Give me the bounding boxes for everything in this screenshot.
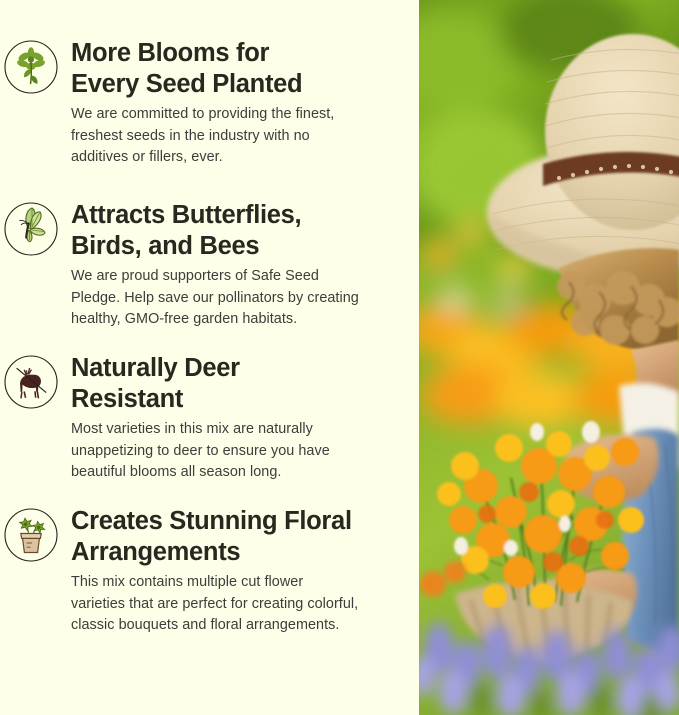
benefit-text-group: Naturally Deer Resistant Most varieties … — [60, 353, 419, 484]
benefit-text-group: Creates Stunning Floral Arrangements Thi… — [60, 506, 419, 637]
benefit-item-attracts-pollinators: Attracts Butterflies, Birds, and Bees We… — [0, 200, 419, 331]
benefit-description: Most varieties in this mix are naturally… — [71, 419, 407, 484]
benefit-text-group: Attracts Butterflies, Birds, and Bees We… — [60, 200, 419, 331]
benefit-item-more-blooms: More Blooms for Every Seed Planted We ar… — [0, 38, 419, 169]
flower-circle-icon — [2, 38, 60, 96]
benefit-item-floral-arrangements: Creates Stunning Floral Arrangements Thi… — [0, 506, 419, 637]
butterfly-circle-icon — [2, 200, 60, 258]
benefit-title: Naturally Deer Resistant — [71, 353, 407, 415]
benefit-description: We are committed to providing the finest… — [71, 104, 407, 169]
no-deer-circle-icon — [2, 353, 60, 411]
benefit-title: Attracts Butterflies, Birds, and Bees — [71, 200, 407, 262]
benefits-infographic: More Blooms for Every Seed Planted We ar… — [0, 0, 679, 715]
benefit-description: We are proud supporters of Safe Seed Ple… — [71, 266, 407, 331]
benefit-item-deer-resistant: Naturally Deer Resistant Most varieties … — [0, 353, 419, 484]
woman-holding-poppy-bouquet-photo — [419, 0, 679, 715]
benefits-panel: More Blooms for Every Seed Planted We ar… — [0, 0, 419, 715]
potted-plant-circle-icon — [2, 506, 60, 564]
benefit-title: Creates Stunning Floral Arrangements — [71, 506, 407, 568]
benefit-text-group: More Blooms for Every Seed Planted We ar… — [60, 38, 419, 169]
benefit-title: More Blooms for Every Seed Planted — [71, 38, 407, 100]
benefit-description: This mix contains multiple cut flower va… — [71, 572, 407, 637]
